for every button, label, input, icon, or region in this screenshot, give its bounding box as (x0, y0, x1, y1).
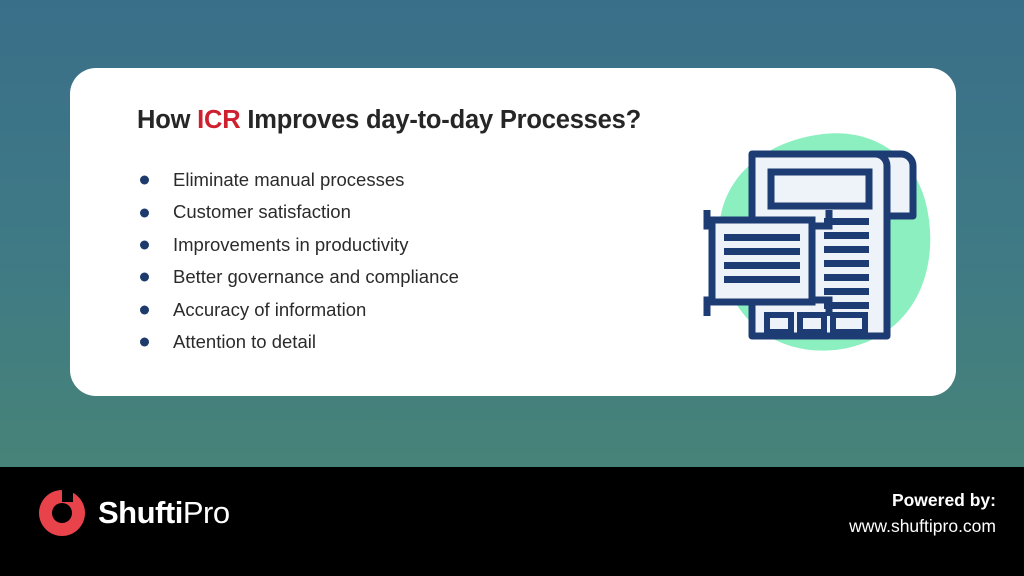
brand-logo[interactable]: ShuftiPro (38, 489, 230, 537)
illustration (695, 122, 945, 362)
slide-canvas: How ICR Improves day-to-day Processes? E… (0, 0, 1024, 576)
bullet-dot-icon (140, 305, 149, 314)
bullet-dot-icon (140, 338, 149, 347)
list-item-label: Attention to detail (173, 331, 316, 352)
website-url[interactable]: www.shuftipro.com (849, 513, 996, 539)
list-item: Accuracy of information (140, 294, 660, 326)
title-prefix: How (137, 106, 197, 134)
list-item-label: Improvements in productivity (173, 234, 408, 255)
bullet-dot-icon (140, 208, 149, 217)
brand-word-shufti: Shufti (98, 495, 183, 530)
list-item-label: Accuracy of information (173, 299, 366, 320)
list-item-label: Eliminate manual processes (173, 169, 404, 190)
list-item: Eliminate manual processes (140, 164, 660, 196)
list-item-label: Customer satisfaction (173, 201, 351, 222)
powered-by-block: Powered by: www.shuftipro.com (849, 487, 996, 539)
list-item: Customer satisfaction (140, 196, 660, 228)
title-accent-icr: ICR (197, 106, 240, 134)
bullet-dot-icon (140, 240, 149, 249)
bullet-dot-icon (140, 176, 149, 185)
brand-word-pro: Pro (183, 495, 230, 530)
bullet-dot-icon (140, 273, 149, 282)
page-title: How ICR Improves day-to-day Processes? (137, 106, 641, 135)
title-suffix: Improves day-to-day Processes? (240, 106, 641, 134)
list-item-label: Better governance and compliance (173, 266, 459, 287)
list-item: Improvements in productivity (140, 229, 660, 261)
brand-wordmark: ShuftiPro (98, 495, 230, 531)
shufti-ring-logo-icon (38, 489, 86, 537)
benefits-list: Eliminate manual processes Customer sati… (140, 164, 660, 358)
list-item: Better governance and compliance (140, 261, 660, 293)
list-item: Attention to detail (140, 326, 660, 358)
powered-by-label: Powered by: (849, 487, 996, 513)
content-card: How ICR Improves day-to-day Processes? E… (70, 68, 956, 396)
footer-bar: ShuftiPro Powered by: www.shuftipro.com (0, 467, 1024, 576)
